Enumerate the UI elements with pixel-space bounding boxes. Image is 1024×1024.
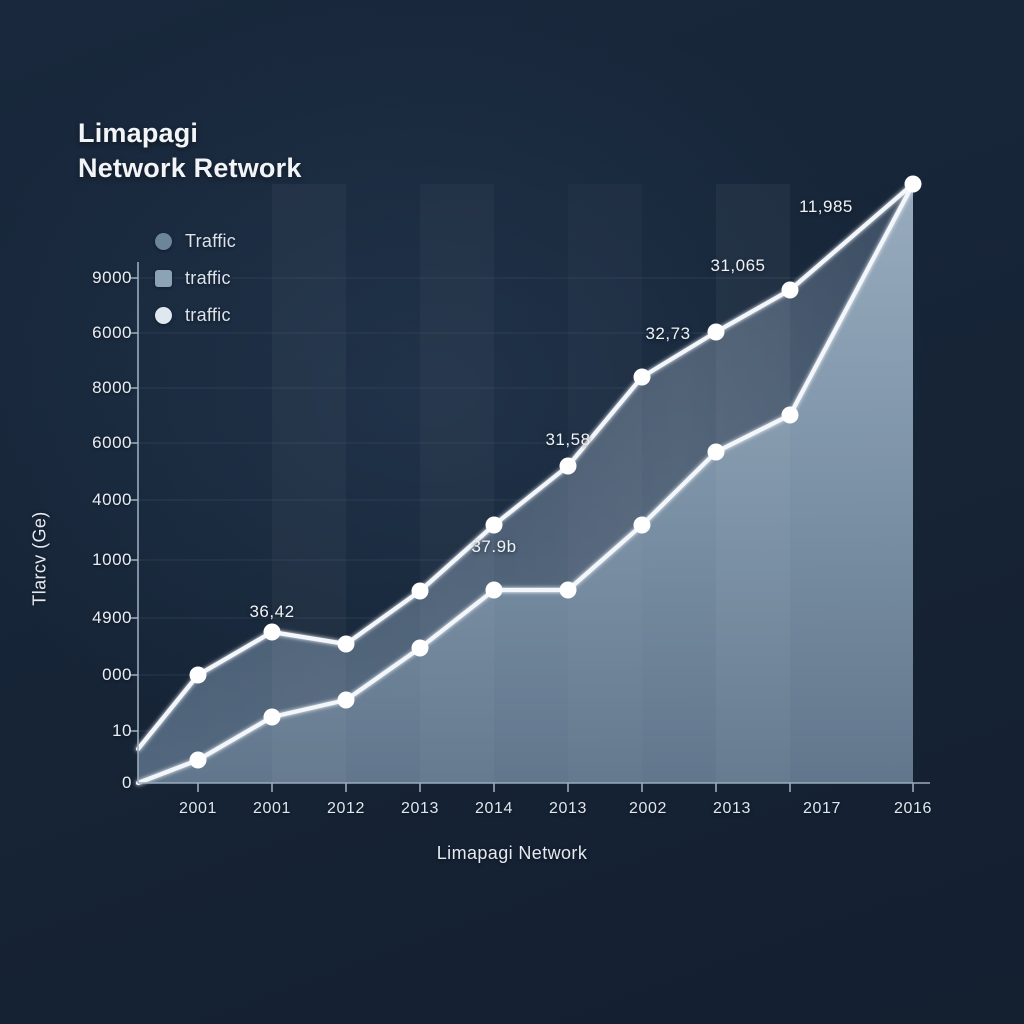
legend-label: traffic [185, 305, 231, 326]
x-tick-label: 2014 [475, 800, 513, 818]
y-tick-label: 0 [22, 773, 132, 793]
x-tick-label: 2016 [894, 800, 932, 818]
legend-label: traffic [185, 268, 231, 289]
data-label: 31,065 [711, 256, 766, 276]
chart-legend: Traffic traffic traffic [155, 231, 236, 326]
y-axis-title: Tlarcv (Ge) [30, 459, 51, 659]
x-axis-title: Limapagi Network [0, 843, 1024, 864]
y-tick-label: 9000 [22, 268, 132, 288]
x-tick-label: 2001 [253, 800, 291, 818]
data-label: 11,985 [799, 197, 853, 217]
data-label: 31,58 [545, 430, 590, 450]
legend-label: Traffic [185, 231, 236, 252]
x-tick-label: 2001 [179, 800, 217, 818]
legend-marker-circle-icon [155, 307, 172, 324]
data-label: 37.9b [471, 537, 516, 557]
legend-marker-square-icon [155, 270, 172, 287]
legend-item-traffic-2[interactable]: traffic [155, 268, 236, 289]
data-label: 32,73 [645, 324, 690, 344]
legend-item-traffic-1[interactable]: Traffic [155, 231, 236, 252]
x-tick-label: 2002 [629, 800, 667, 818]
y-tick-label: 8000 [22, 378, 132, 398]
x-tick-label: 2017 [803, 800, 841, 818]
x-tick-label: 2013 [713, 800, 751, 818]
y-tick-label: 000 [22, 665, 132, 685]
chart-canvas: Limapagi Network Retwork Traffic traffic… [0, 0, 1024, 1024]
y-tick-label: 10 [22, 721, 132, 741]
data-label: 36,42 [249, 602, 294, 622]
legend-item-traffic-3[interactable]: traffic [155, 305, 236, 326]
legend-marker-circle-icon [155, 233, 172, 250]
y-tick-label: 6000 [22, 433, 132, 453]
x-tick-label: 2012 [327, 800, 365, 818]
x-tick-label: 2013 [401, 800, 439, 818]
x-tick-label: 2013 [549, 800, 587, 818]
y-tick-label: 6000 [22, 323, 132, 343]
x-axis-ticks [198, 783, 913, 792]
y-axis-tick-labels: 9000 6000 8000 6000 4000 1000 4900 000 1… [0, 0, 132, 1024]
